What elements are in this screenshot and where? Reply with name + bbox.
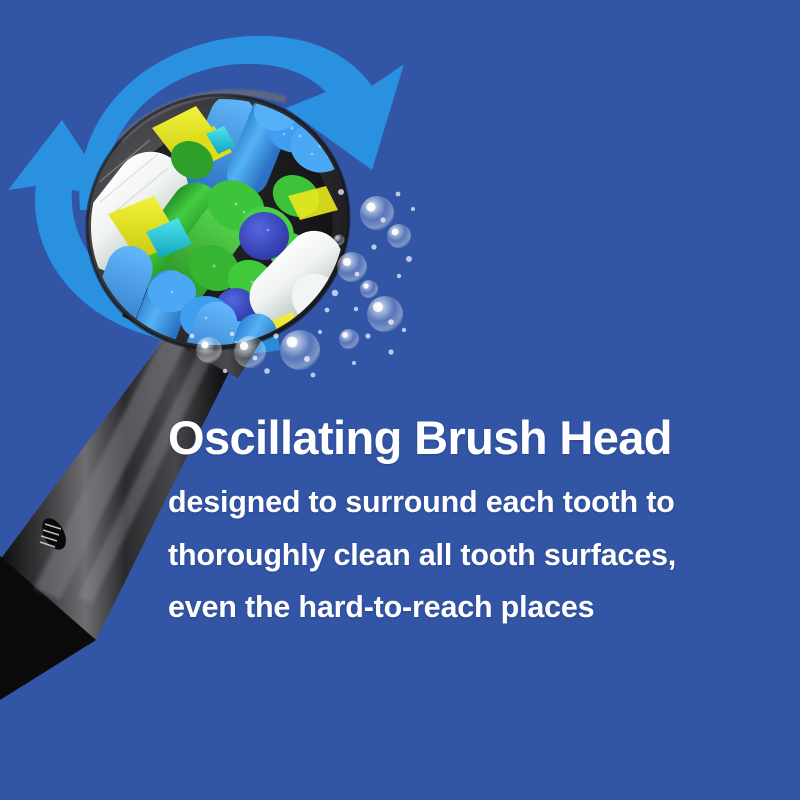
product-illustration [0, 0, 800, 800]
body-line-3: even the hard-to-reach places [168, 592, 788, 623]
body-line-1: designed to surround each tooth to [168, 487, 788, 518]
marketing-copy: Oscillating Brush Head designed to surro… [168, 414, 788, 623]
body-line-2: thoroughly clean all tooth surfaces, [168, 540, 788, 571]
product-feature-banner: Oscillating Brush Head designed to surro… [0, 0, 800, 800]
page-title: Oscillating Brush Head [168, 414, 788, 461]
